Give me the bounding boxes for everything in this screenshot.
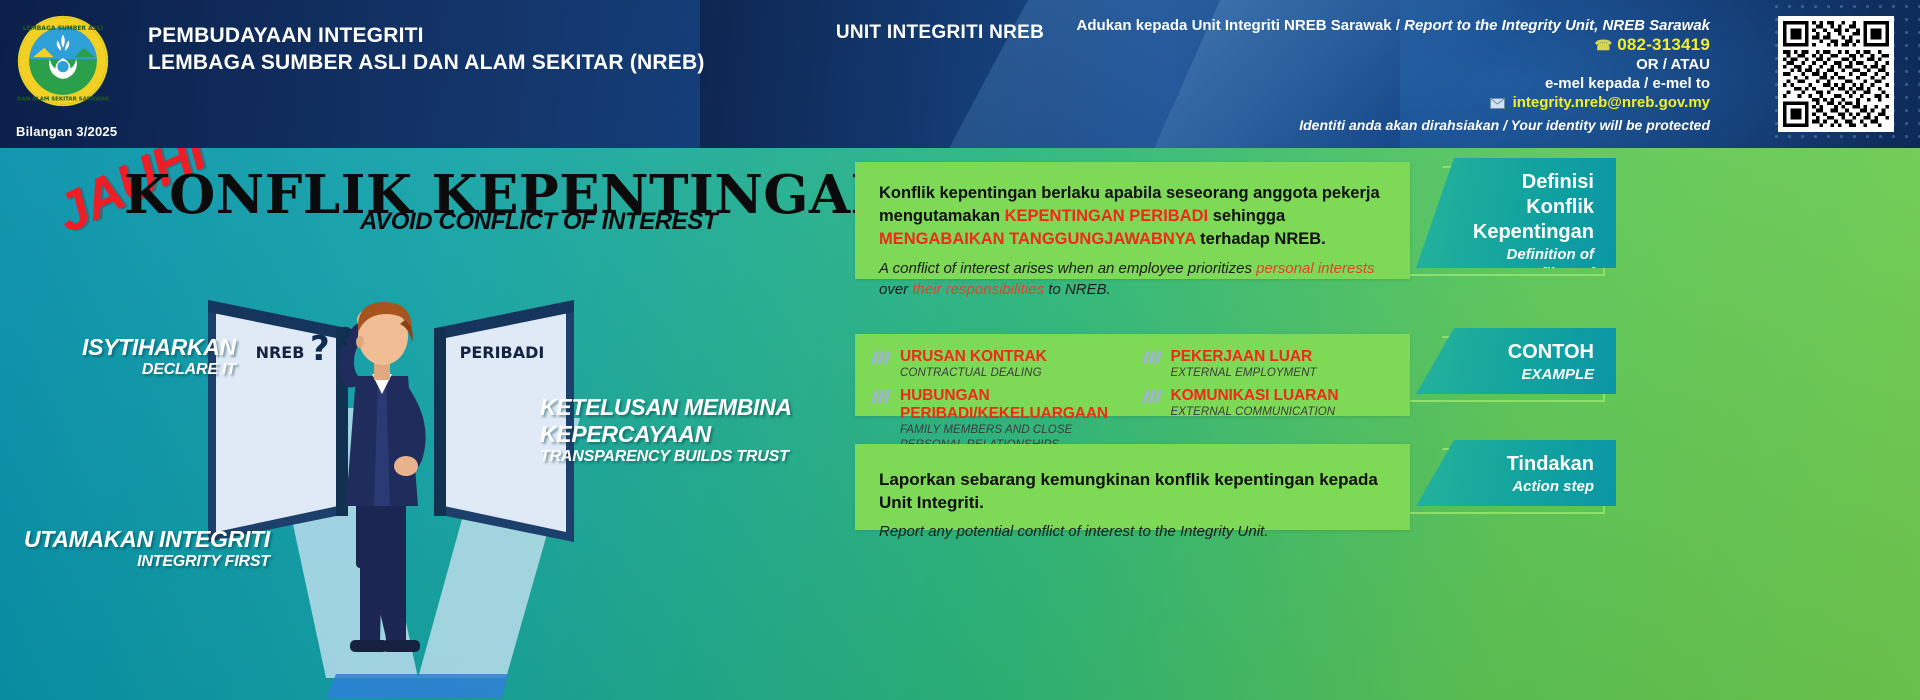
panel-definisi-en: A conflict of interest arises when an em… <box>879 258 1386 300</box>
panel-tindakan-en: Report any potential conflict of interes… <box>879 521 1386 542</box>
poster-body: JAUHI KONFLIK KEPENTINGAN AVOID CONFLICT… <box>0 148 1920 700</box>
contact-privacy: Identiti anda akan dirahsiakan / Your id… <box>990 116 1710 135</box>
svg-text:?: ? <box>338 323 353 353</box>
tab-definisi-line3: Kepentingan <box>1456 220 1594 245</box>
header-title-line2: LEMBAGA SUMBER ASLI DAN ALAM SEKITAR (NR… <box>148 49 705 76</box>
door-left-label: NREB <box>256 343 305 362</box>
tab-definisi-sub3: interest <box>1456 283 1594 302</box>
issue-number: Bilangan 3/2025 <box>16 124 117 139</box>
contact-email-line[interactable]: integrity.nreb@nreb.gov.my <box>990 93 1710 114</box>
tab-definisi-line1: Definisi <box>1456 170 1594 195</box>
panel-definisi: Konflik kepentingan berlaku apabila sese… <box>855 162 1410 279</box>
example-3-en: EXTERNAL COMMUNICATION <box>1171 405 1339 420</box>
p1ms-part-2: sehingga <box>1208 207 1285 225</box>
panel-definisi-ms: Konflik kepentingan berlaku apabila sese… <box>879 182 1386 251</box>
svg-text:LEMBAGA SUMBER ASLI: LEMBAGA SUMBER ASLI <box>23 25 103 32</box>
label-ketelusan-ms-line2: KEPERCAYAAN <box>540 421 792 448</box>
tab-tindakan-title: Tindakan <box>1456 452 1594 477</box>
label-isytiharkan: ISYTIHARKAN DECLARE IT <box>82 334 236 379</box>
example-0-ms: URUSAN KONTRAK <box>900 348 1047 366</box>
contact-phone: 082-313419 <box>1617 35 1710 54</box>
tab-definisi-line2: Konflik <box>1456 195 1594 220</box>
tab-contoh-title: CONTOH <box>1456 340 1594 365</box>
nreb-logo: LEMBAGA SUMBER ASLI DAN ALAM SEKITAR SAR… <box>16 14 110 108</box>
p1en-part-4: to NREB. <box>1044 281 1111 298</box>
label-utamakan-en: INTEGRITY FIRST <box>24 553 270 571</box>
label-utamakan-ms: UTAMAKAN INTEGRITI <box>24 526 270 553</box>
example-item: URUSAN KONTRAK CONTRACTUAL DEALING <box>873 348 1122 381</box>
tab-contoh-sub: EXAMPLE <box>1456 365 1594 384</box>
example-2-en: EXTERNAL EMPLOYMENT <box>1171 366 1317 381</box>
p1ms-part-4: terhadap NREB. <box>1196 230 1326 248</box>
qr-code-svg <box>1783 21 1889 127</box>
door-right-label: PERIBADI <box>460 343 545 362</box>
svg-text:?: ? <box>310 329 330 369</box>
p1en-part-0: A conflict of interest arises when an em… <box>879 260 1256 277</box>
poster-root: LEMBAGA SUMBER ASLI DAN ALAM SEKITAR SAR… <box>0 0 1920 700</box>
example-2-ms: PEKERJAAN LUAR <box>1171 348 1317 366</box>
bars-icon <box>873 351 893 364</box>
contact-phone-line[interactable]: ☎ 082-313419 <box>990 35 1710 55</box>
example-1-ms: HUBUNGAN PERIBADI/KEKELUARGAAN <box>900 387 1122 423</box>
contact-email: integrity.nreb@nreb.gov.my <box>1513 94 1710 111</box>
example-item: PEKERJAAN LUAR EXTERNAL EMPLOYMENT <box>1144 348 1393 381</box>
p1ms-part-3: MENGABAIKAN TANGGUNGJAWABNYA <box>879 230 1196 248</box>
envelope-icon-svg <box>1490 98 1505 109</box>
p1en-part-3: their responsibilities <box>912 281 1044 298</box>
example-0-en: CONTRACTUAL DEALING <box>900 366 1047 381</box>
envelope-icon <box>1490 95 1505 114</box>
label-ketelusan: KETELUSAN MEMBINA KEPERCAYAAN TRANSPAREN… <box>540 394 792 466</box>
contact-report-en: Report to the Integrity Unit, NREB Saraw… <box>1404 17 1710 34</box>
example-3-ms: KOMUNIKASI LUARAN <box>1171 387 1339 405</box>
example-item: KOMUNIKASI LUARAN EXTERNAL COMMUNICATION <box>1144 387 1393 420</box>
contact-block: Adukan kepada Unit Integriti NREB Sarawa… <box>990 16 1710 135</box>
header-title-block: PEMBUDAYAAN INTEGRITI LEMBAGA SUMBER ASL… <box>148 22 705 76</box>
examples-column-left: URUSAN KONTRAK CONTRACTUAL DEALING HUBUN… <box>873 348 1122 459</box>
contact-report-ms: Adukan kepada Unit Integriti NREB Sarawa… <box>1077 17 1392 34</box>
p1ms-part-1: KEPENTINGAN PERIBADI <box>1005 207 1209 225</box>
nreb-logo-icon: LEMBAGA SUMBER ASLI DAN ALAM SEKITAR SAR… <box>16 14 110 108</box>
label-isytiharkan-ms: ISYTIHARKAN <box>82 334 236 361</box>
page-header: LEMBAGA SUMBER ASLI DAN ALAM SEKITAR SAR… <box>0 0 1920 148</box>
bars-icon <box>1144 390 1164 403</box>
label-ketelusan-en: TRANSPARENCY BUILDS TRUST <box>540 448 792 466</box>
panel-contoh: URUSAN KONTRAK CONTRACTUAL DEALING HUBUN… <box>855 334 1410 416</box>
label-ketelusan-ms-line1: KETELUSAN MEMBINA <box>540 394 792 421</box>
bars-icon <box>873 390 893 403</box>
contact-report-line: Adukan kepada Unit Integriti NREB Sarawa… <box>990 16 1710 35</box>
label-utamakan: UTAMAKAN INTEGRITI INTEGRITY FIRST <box>24 526 270 571</box>
contact-email-label: e-mel kepada / e-mel to <box>990 74 1710 93</box>
tab-definisi-sub1: Definition of <box>1456 245 1594 264</box>
bars-icon <box>1144 351 1164 364</box>
panel-tindakan-ms: Laporkan sebarang kemungkinan konflik ke… <box>879 468 1386 514</box>
svg-text:DAN ALAM SEKITAR SARAWAK: DAN ALAM SEKITAR SARAWAK <box>17 96 110 102</box>
examples-grid: URUSAN KONTRAK CONTRACTUAL DEALING HUBUN… <box>873 348 1392 459</box>
contact-separator: / <box>1396 17 1400 34</box>
p1en-part-2: over <box>879 281 912 298</box>
p1en-part-1: personal interests <box>1256 260 1374 277</box>
panel-tindakan: Laporkan sebarang kemungkinan konflik ke… <box>855 444 1410 530</box>
contact-or: OR / ATAU <box>990 55 1710 74</box>
label-isytiharkan-en: DECLARE IT <box>82 361 236 379</box>
qr-code[interactable] <box>1778 16 1894 132</box>
phone-icon: ☎ <box>1595 37 1613 53</box>
examples-column-right: PEKERJAAN LUAR EXTERNAL EMPLOYMENT KOMUN… <box>1144 348 1393 459</box>
tab-tindakan-sub: Action step <box>1456 477 1594 496</box>
header-title-line1: PEMBUDAYAAN INTEGRITI <box>148 22 705 49</box>
